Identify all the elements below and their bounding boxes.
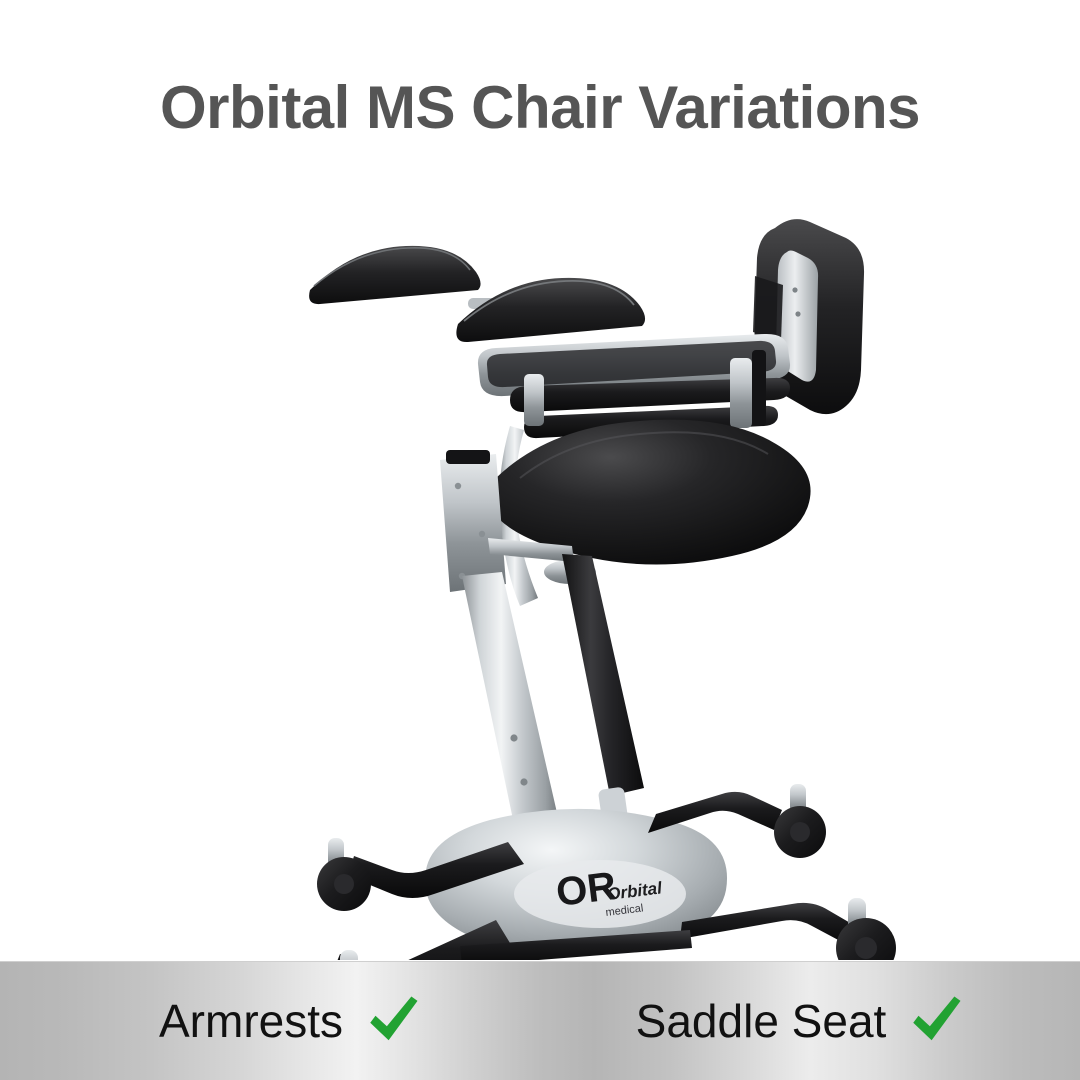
product-photo: OR Orbital medical — [0, 160, 1080, 960]
page-root: Orbital MS Chair Variations — [0, 0, 1080, 1080]
feature-label-saddle-seat: Saddle Seat — [636, 998, 887, 1044]
orbital-chair-illustration: OR Orbital medical — [0, 160, 1080, 960]
seat-bracket-plate — [440, 454, 506, 592]
check-icon — [908, 993, 964, 1049]
feature-list: Armrests Saddle Seat — [0, 962, 1080, 1080]
armrest-pivot-cover — [752, 350, 766, 426]
caster-front-left — [326, 950, 390, 960]
armrest-assembly — [309, 246, 790, 438]
page-title-area: Orbital MS Chair Variations — [0, 58, 1080, 158]
page-title: Orbital MS Chair Variations — [160, 78, 920, 138]
seat-bracket-cap — [446, 450, 490, 464]
caster-rear-left — [317, 838, 371, 911]
bracket-bolt-2 — [479, 531, 485, 537]
saddle-seat-assembly — [488, 420, 811, 584]
armrest-pivot-hinge-right — [730, 358, 752, 428]
feature-item-saddle-seat: Saddle Seat — [540, 993, 1050, 1049]
backrest-screw-top — [792, 287, 797, 292]
caster-fork-fl — [340, 950, 358, 960]
armrest-pivot-hinge-left — [524, 374, 544, 426]
caster-rear-right — [774, 784, 826, 858]
backrest-screw-bottom — [795, 311, 800, 316]
caster-hub-rl — [334, 874, 354, 894]
feature-item-armrests: Armrests — [30, 993, 540, 1049]
post-hole-1 — [510, 734, 517, 741]
armrest-right-pad — [456, 278, 645, 342]
feature-label-armrests: Armrests — [159, 998, 343, 1044]
feature-bar: Armrests Saddle Seat — [0, 961, 1080, 1080]
main-aluminum-post — [462, 572, 560, 834]
backrest-side-block — [753, 276, 783, 341]
product-image-stage: OR Orbital medical — [0, 160, 1080, 960]
caster-front-right — [836, 898, 896, 960]
gas-cylinder-body — [562, 554, 644, 796]
caster-hub-rr — [790, 822, 810, 842]
post-hole-2 — [520, 778, 527, 785]
bracket-bolt-1 — [455, 483, 461, 489]
check-icon — [365, 993, 421, 1049]
caster-hub-fr — [855, 937, 877, 959]
armrest-left-pad — [309, 246, 480, 304]
